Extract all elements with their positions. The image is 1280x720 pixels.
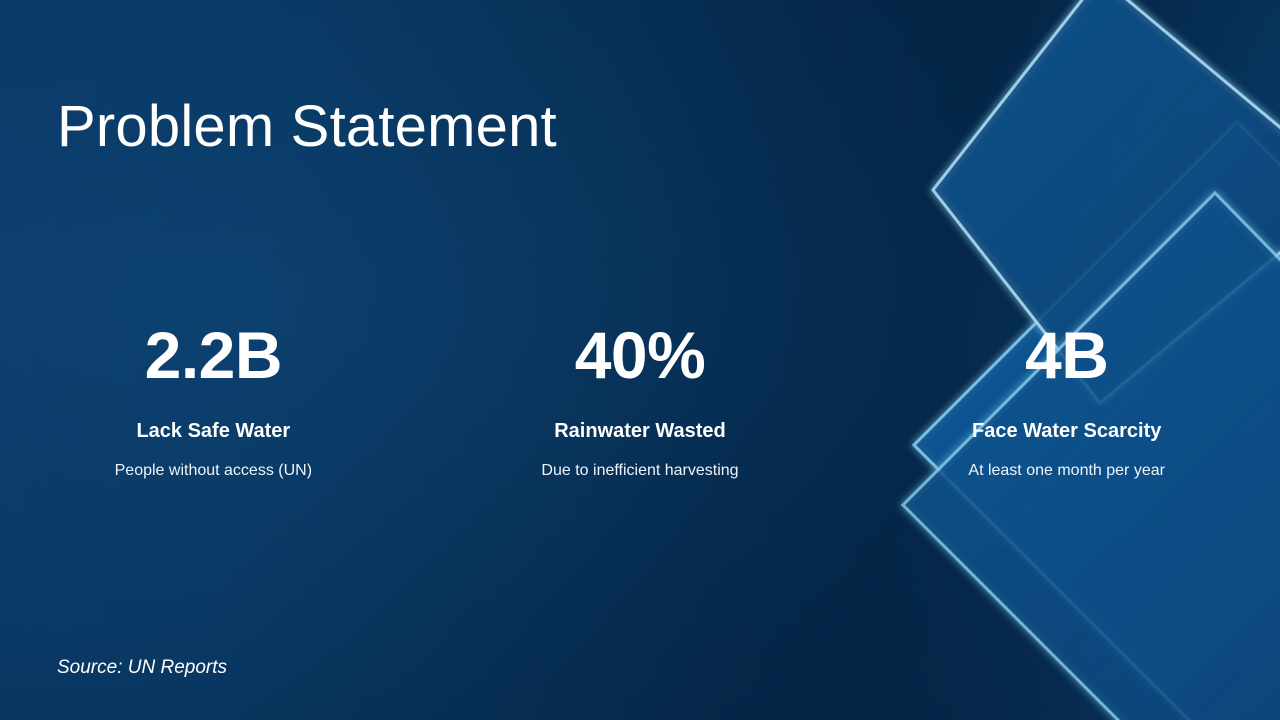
stat-value-1: 2.2B [10,322,417,388]
stat-description-1: People without access (UN) [10,461,417,480]
stat-description-2: Due to inefficient harvesting [437,461,844,480]
source-note: Source: UN Reports [57,657,227,679]
slide-canvas: Problem Statement 2.2B Lack Safe Water P… [0,0,1280,720]
stat-label-3: Face Water Scarcity [863,419,1270,443]
stat-card-1: 2.2B Lack Safe Water People without acce… [0,322,427,480]
stat-value-2: 40% [437,322,844,388]
statistics-row: 2.2B Lack Safe Water People without acce… [0,322,1280,480]
page-title: Problem Statement [57,95,557,159]
stat-label-2: Rainwater Wasted [437,419,844,443]
stat-label-1: Lack Safe Water [10,419,417,443]
stat-card-3: 4B Face Water Scarcity At least one mont… [853,322,1280,480]
stat-description-3: At least one month per year [863,461,1270,480]
stat-value-3: 4B [863,322,1270,388]
stat-card-2: 40% Rainwater Wasted Due to inefficient … [427,322,854,480]
